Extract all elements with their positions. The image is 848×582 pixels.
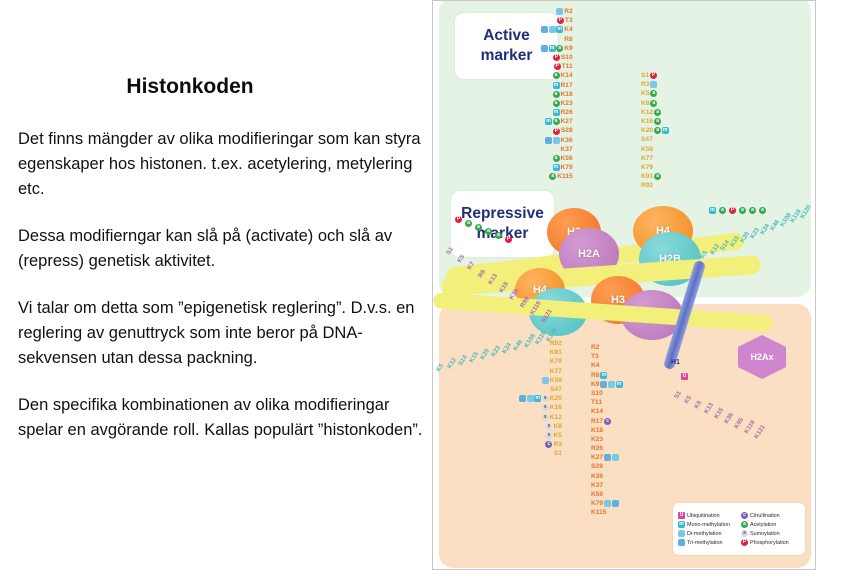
mod-icon-ac: a [553,100,560,107]
residue-mods: a [553,100,560,107]
mod-icon-tri [678,539,685,546]
residue-K37: K37 [541,145,573,154]
residue-K56: aK56 [541,154,573,163]
legend-item-phosphorylation: PPhosphorylation [741,539,800,547]
residue-label: K56 [591,490,603,499]
residue-R26: R26 [591,444,623,453]
residue-K20: msK20 [519,394,562,403]
mod-icon-ac: a [654,118,661,125]
mod-icon-di [553,137,560,144]
mod-icon-mono: m [616,381,623,388]
mod-icon-di [678,530,685,537]
paragraph-1: Det finns mängder av olika modifieringar… [18,127,430,202]
residue-mods [604,500,619,507]
residue-S10: PS10 [541,53,573,62]
residue-mods: P [553,54,560,61]
mod-icon-di [556,8,563,15]
legend: UUbiquitinationcCitrullinationmMono-meth… [673,503,805,555]
residue-mods: a [654,173,661,180]
residue-mods: ms [519,395,549,402]
mod-icon-di [608,381,615,388]
mod-icon-ub: U [678,512,685,519]
mod-icon-mono: m [553,109,560,116]
residue-label: R8 [564,35,572,44]
legend-item-label: Ubiquitination [687,512,720,520]
residue-label: S28 [591,462,603,471]
residue-label: R3 [553,440,561,449]
residue-K36: K36 [541,136,573,145]
residue-label: K79 [591,499,603,508]
residue-mods: m [600,372,607,379]
residue-label: S1 [641,71,649,80]
repressive-tail-h4: R92K91K79K77K59S47msK20sK16sK12sK8sK5cR3… [519,339,562,458]
mod-icon-ac: a [495,232,502,239]
residue-label: K14 [561,71,573,80]
residue-label: K79 [641,163,653,172]
mod-icon-ac: a [650,90,657,97]
active-marker-line1: Active [483,26,530,46]
residue-mods [650,81,657,88]
legend-item-label: Mono-methylation [687,521,730,529]
active-tail-h3: R2PT3mK4R8maK9PS10PT11aK14mR17aK18aK23mR… [541,7,573,182]
residue-mods: am [654,127,669,134]
residue-K27: maK27 [541,117,573,126]
legend-item-mono-methylation: mMono-methylation [678,521,737,529]
residue-T11: T11 [591,398,623,407]
residue-K56: K56 [591,490,623,499]
residue-label: K37 [561,145,573,154]
residue-K14: K14 [591,407,623,416]
residue-mods: s [542,414,549,421]
residue-S47: S47 [641,135,669,144]
legend-item-citrullination: cCitrullination [741,512,800,520]
residue-label: K56 [561,154,573,163]
residue-mods: c [545,441,552,448]
residue-R3: R3 [641,80,669,89]
residue-K77: K77 [519,367,562,376]
residue-label: K23 [591,435,603,444]
residue-K23: K23 [591,435,623,444]
residue-label: K16 [641,117,653,126]
residue-K79: K79 [641,163,669,172]
mod-icon-ac: a [553,72,560,79]
residue-label: S10 [591,389,603,398]
mod-icon-tri [600,381,607,388]
residue-label: K79 [561,163,573,172]
residue-label: K36 [561,136,573,145]
residue-mods: m [553,82,560,89]
residue-label: K8 [553,422,561,431]
mod-icon-ac: a [553,155,560,162]
mod-icon-di [542,377,549,384]
residue-R26: mR26 [541,108,573,117]
residue-mods: m [600,381,622,388]
residue-mods [556,8,563,15]
residue-K8: K8a [641,99,669,108]
residue-R2: R2 [541,7,573,16]
residue-label: K115 [591,508,606,517]
residue-K18: aK18 [541,90,573,99]
legend-item-tri-methylation: Tri-methylation [678,539,737,547]
mod-icon-tri [541,45,548,52]
residue-label: K77 [550,367,562,376]
paragraph-4: Den specifika kombinationen av olika mod… [18,393,430,443]
residue-R3: cR3 [519,440,562,449]
mod-icon-mono: m [545,118,552,125]
residue-S28: PS28 [541,126,573,135]
residue-K59: K59 [519,376,562,385]
residue-mods: a [553,72,560,79]
mod-icon-ph: P [505,236,512,243]
residue-mods: P [650,72,657,79]
residue-label: R26 [591,444,603,453]
mod-icon-ph: P [553,128,560,135]
residue-label: K14 [591,407,603,416]
residue-S28: S28 [591,462,623,471]
residue-mods [542,377,549,384]
mod-icon-mono: m [709,207,716,214]
residue-label: S1 [554,449,562,458]
residue-K91: K91 [519,348,562,357]
residue-label: T3 [565,16,573,25]
residue-label: R8 [591,371,599,380]
residue-R8: R8 [541,35,573,44]
residue-label: R2 [564,7,572,16]
residue-label: S47 [641,135,653,144]
legend-item-label: Phosphorylation [750,539,789,547]
figure-canvas: Active marker Repressive marker H3 H4 H2… [433,1,815,569]
mod-icon-ph: P [455,216,462,223]
legend-item-sumoylation: sSumoylation [741,530,800,538]
residue-mods: s [542,404,549,411]
mod-icon-mono: m [600,372,607,379]
residue-label: K59 [550,376,562,385]
mod-icon-cit: c [604,418,611,425]
mod-icon-su: s [545,423,552,430]
legend-item-ubiquitination: UUbiquitination [678,512,737,520]
mod-icon-ac: a [650,100,657,107]
slide-text-column: Histonkoden Det finns mängder av olika m… [0,0,432,582]
residue-K91: K91a [641,172,669,181]
mod-icon-su: s [542,395,549,402]
mod-icon-su: s [542,414,549,421]
legend-item-di-methylation: Di-methylation [678,530,737,538]
mod-icon-ac: a [654,173,661,180]
residue-K5: sK5 [519,431,562,440]
residue-mods: a [553,91,560,98]
residue-K23: aK23 [541,99,573,108]
residue-mods: a [654,118,661,125]
mod-icon-ac: a [485,228,492,235]
mod-icon-ac: a [654,109,661,116]
residue-R17: R17c [591,417,623,426]
mod-icon-ac: a [741,521,748,528]
residue-label: K115 [557,172,572,181]
residue-mods: a [650,100,657,107]
residue-K14: aK14 [541,71,573,80]
residue-label: S10 [561,53,573,62]
residue-K4: mK4 [541,25,573,34]
residue-S1: S1 [519,449,562,458]
residue-K59: K59 [641,145,669,154]
mod-icon-su: s [741,530,748,537]
residue-K16: sK16 [519,403,562,412]
residue-label: K4 [564,25,572,34]
mod-icon-cit: c [741,512,748,519]
mod-icon-tri [545,137,552,144]
mod-icon-mono: m [553,164,560,171]
slide-body: Det finns mängder av olika modifieringar… [18,127,430,443]
residue-R8: R8m [591,371,623,380]
residue-label: T3 [591,352,599,361]
mod-icon-di [612,454,619,461]
residue-K37: K37 [591,481,623,490]
residue-K8: sK8 [519,422,562,431]
legend-item-acetylation: aAcetylation [741,521,800,529]
residue-K12: sK12 [519,413,562,422]
residue-mods: a [553,155,560,162]
mod-icon-ac: a [549,173,556,180]
residue-label: K27 [561,117,573,126]
residue-label: R26 [561,108,573,117]
residue-mods: m [553,109,560,116]
residue-mods: P [554,63,561,70]
mod-icon-ac: a [475,224,482,231]
residue-label: K59 [641,145,653,154]
mod-icon-tri [612,500,619,507]
residue-K5: K5a [641,89,669,98]
mod-icon-tri [519,395,526,402]
legend-item-label: Acetylation [750,521,776,529]
residue-mods: s [545,432,552,439]
mod-icon-mono: m [549,45,556,52]
residue-mods: ma [541,45,563,52]
mod-icon-ac: a [553,91,560,98]
residue-K79: K79 [591,499,623,508]
residue-label: R92 [641,181,653,190]
residue-mods: ma [545,118,560,125]
mod-icon-tri [604,454,611,461]
residue-label: K37 [591,481,603,490]
residue-label: K9 [591,380,599,389]
mod-icon-di [549,26,556,33]
residue-K27: K27 [591,453,623,462]
mod-icon-mono: m [553,82,560,89]
paragraph-3: Vi talar om detta som ”epigenetisk regle… [18,296,430,371]
active-marker-line2: marker [481,46,533,66]
active-tail-h4: S1PR3K5aK8aK12aK16aK20amS47K59K77K79K91a… [641,71,669,190]
mod-icon-ac: a [556,45,563,52]
mod-icon-ac: a [739,207,746,214]
residue-label: R3 [641,80,649,89]
residue-mods: c [604,418,611,425]
residue-label: K36 [591,472,603,481]
residue-mods: m [541,26,563,33]
mod-icon-mono: m [556,26,563,33]
residue-label: K20 [550,394,562,403]
residue-label: K23 [561,99,573,108]
residue-label: K18 [591,426,603,435]
nucleosome-core: H3 H4 H2A H2B H4 H3 H2B H2A [493,206,743,336]
mod-icon-ph: P [553,54,560,61]
residue-mods: P [557,17,564,24]
mod-icon-di [650,81,657,88]
residue-label: T11 [591,398,602,407]
mod-icon-mono: m [662,127,669,134]
residue-label: K8 [641,99,649,108]
histone-h1-label: H1 [671,359,680,366]
legend-item-label: Di-methylation [687,530,721,538]
residue-S1: S1P [641,71,669,80]
residue-label: K4 [591,361,599,370]
residue-S47: S47 [519,385,562,394]
residue-label: R2 [591,343,599,352]
legend-item-label: Tri-methylation [687,539,722,547]
residue-mods: a [650,90,657,97]
residue-R17: mR17 [541,81,573,90]
residue-R2: R2 [591,343,623,352]
residue-label: S28 [561,126,573,135]
mod-icon-ph: P [729,207,736,214]
residue-K12: K12a [641,108,669,117]
mod-icon-ac: a [465,220,472,227]
residue-K115: K115 [591,508,623,517]
residue-K79: mK79 [541,163,573,172]
paragraph-2: Dessa modifierngar kan slå på (activate)… [18,224,430,274]
residue-mods [545,137,560,144]
residue-R92: R92 [641,181,669,190]
mod-icon-ph: P [650,72,657,79]
residue-K77: K77 [641,154,669,163]
mod-icon-di [527,395,534,402]
residue-label: K27 [591,453,603,462]
mod-icon-ph: P [557,17,564,24]
residue-label: K91 [641,172,653,181]
residue-label: K20 [641,126,653,135]
residue-label: K18 [561,90,573,99]
residue-mods: a [654,109,661,116]
residue-K9: maK9 [541,44,573,53]
page-title: Histonkoden [0,75,380,99]
mod-icon-tri [541,26,548,33]
mod-icon-ac: a [654,127,661,134]
residue-label: K5 [553,431,561,440]
mod-icon-ac: a [759,207,766,214]
histone-code-figure: Active marker Repressive marker H3 H4 H2… [432,0,816,570]
mod-icon-ac: a [719,207,726,214]
residue-K36: K36 [591,472,623,481]
residue-T3: T3 [591,352,623,361]
mod-icon-cit: c [545,441,552,448]
mod-icon-ph: P [741,539,748,546]
residue-mods [604,454,619,461]
residue-label: K16 [550,403,562,412]
legend-item-label: Sumoylation [750,530,780,538]
residue-label: K12 [641,108,653,117]
mod-icon-su: s [542,404,549,411]
residue-T3: PT3 [541,16,573,25]
mod-icon-ph: P [554,63,561,70]
mod-icon-ac: a [749,207,756,214]
residue-S10: S10 [591,389,623,398]
residue-label: K5 [641,89,649,98]
mod-icon-su: s [545,432,552,439]
residue-label: K12 [550,413,562,422]
residue-K9: K9m [591,380,623,389]
residue-label: K77 [641,154,653,163]
residue-K20: K20am [641,126,669,135]
mod-icon-mono: m [678,521,685,528]
residue-label: R17 [591,417,603,426]
residue-label: S47 [550,385,562,394]
legend-item-label: Citrullination [750,512,780,520]
residue-mods: s [545,423,552,430]
mod-icon-ub: U [681,373,688,380]
mod-icon-di [604,500,611,507]
mod-icon-mono: m [534,395,541,402]
residue-mods: a [549,173,556,180]
residue-T11: PT11 [541,62,573,71]
residue-label: R17 [561,81,573,90]
residue-label: K91 [550,348,562,357]
residue-mods: P [553,128,560,135]
residue-label: T11 [562,62,573,71]
repressive-tail-h3: R2T3K4R8mK9mS10T11K14R17cK18K23R26K27S28… [591,343,623,518]
residue-label: K9 [564,44,572,53]
residue-mods: m [553,164,560,171]
residue-K79: K79 [519,357,562,366]
residue-K18: K18 [591,426,623,435]
residue-K4: K4 [591,361,623,370]
residue-label: K79 [550,357,562,366]
residue-K115: aK115 [541,172,573,181]
residue-K16: K16a [641,117,669,126]
mod-icon-ac: a [553,118,560,125]
